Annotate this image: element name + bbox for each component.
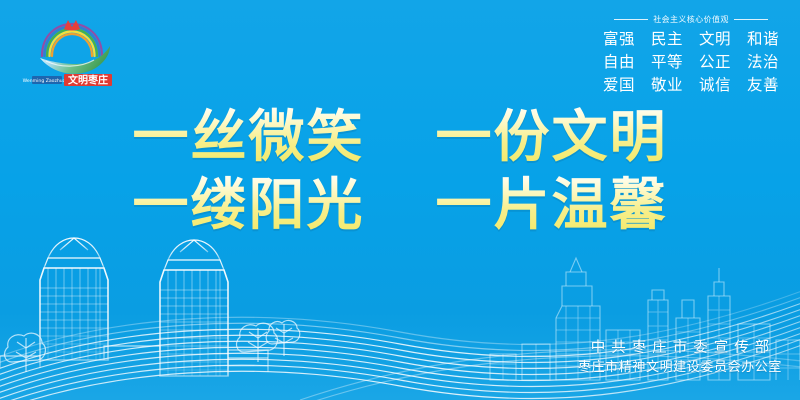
slogan-line-2-left: 一缕阳光	[133, 173, 365, 238]
slogan-line-1-left: 一丝微笑	[133, 105, 365, 170]
core-value-item: 法治	[740, 53, 786, 72]
slogan-line-1-right: 一份文明	[436, 105, 668, 170]
heading-rule-right	[734, 19, 768, 20]
core-value-item: 自由	[596, 53, 642, 72]
wenming-zaozhuang-logo[interactable]: Wenming Zaozhuang 文明枣庄	[18, 16, 126, 86]
core-value-item: 文明	[692, 30, 738, 49]
core-values-grid: 富强 民主 文明 和谐 自由 平等 公正 法治 爱国 敬业 诚信 友善	[596, 30, 786, 95]
core-value-item: 平等	[644, 53, 690, 72]
main-slogan: 一丝微笑 一份文明 一缕阳光 一片温馨	[0, 104, 800, 241]
core-value-item: 民主	[644, 30, 690, 49]
core-value-item: 诚信	[692, 76, 738, 95]
department-line-1: 中共枣庄市委宣传部	[578, 338, 782, 359]
slogan-line-2-right: 一片温馨	[436, 173, 668, 238]
logo-wordmark: Wenming Zaozhuang 文明枣庄	[23, 74, 112, 87]
heading-rule-left	[614, 19, 648, 20]
department-line-2: 枣庄市精神文明建设委员会办公室	[578, 359, 782, 378]
core-values-heading-text: 社会主义核心价值观	[653, 14, 729, 25]
core-value-item: 和谐	[740, 30, 786, 49]
core-value-item: 爱国	[596, 76, 642, 95]
core-value-item: 友善	[740, 76, 786, 95]
slogan-line-2: 一缕阳光 一片温馨	[0, 172, 800, 240]
logo-wordmark-cn: 文明枣庄	[68, 74, 108, 87]
core-values-heading: 社会主义核心价值观	[596, 14, 786, 25]
poster-canvas: Wenming Zaozhuang 文明枣庄 社会主义核心价值观 富强 民主 文…	[0, 0, 800, 400]
core-value-item: 敬业	[644, 76, 690, 95]
slogan-line-1: 一丝微笑 一份文明	[0, 104, 800, 172]
core-value-item: 富强	[596, 30, 642, 49]
department-signature: 中共枣庄市委宣传部 枣庄市精神文明建设委员会办公室	[578, 338, 782, 378]
core-value-item: 公正	[692, 53, 738, 72]
core-values-block: 社会主义核心价值观 富强 民主 文明 和谐 自由 平等 公正 法治 爱国 敬业 …	[596, 14, 786, 95]
red-crown-mark	[64, 20, 80, 31]
